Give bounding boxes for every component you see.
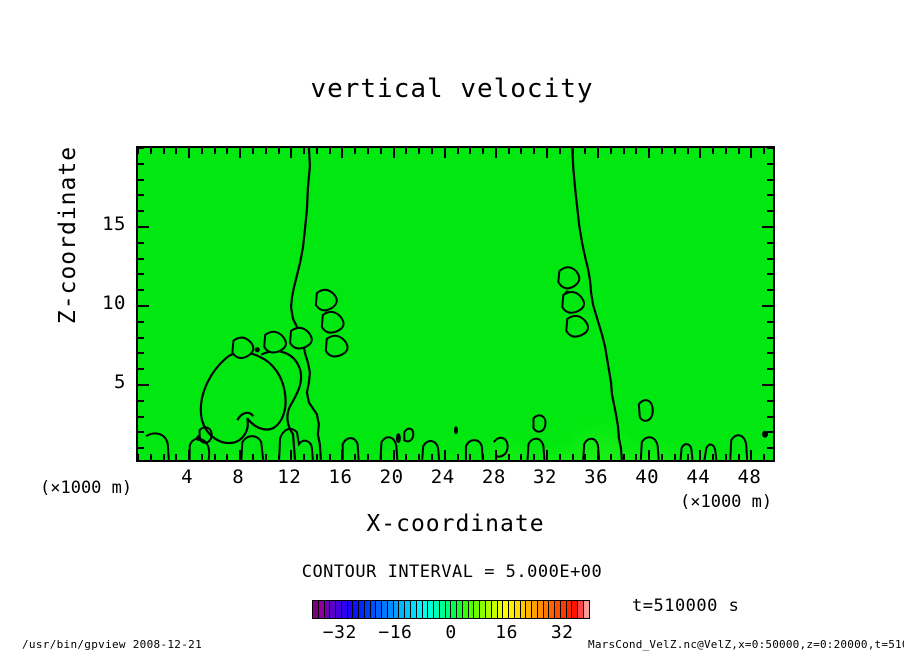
colorbar-swatch bbox=[469, 601, 474, 618]
colorbar-swatch bbox=[463, 601, 468, 618]
axis-tick bbox=[367, 454, 369, 460]
axis-tick bbox=[418, 148, 420, 154]
axis-tick bbox=[482, 148, 484, 154]
x-axis-units-label: (×1000 m) bbox=[680, 492, 772, 512]
axis-tick bbox=[138, 447, 144, 449]
axis-tick bbox=[252, 454, 254, 460]
y-axis-title: Z-coordinate bbox=[55, 115, 81, 355]
colorbar-swatch bbox=[480, 601, 485, 618]
colorbar-swatch bbox=[549, 601, 554, 618]
axis-tick bbox=[252, 148, 254, 154]
colorbar-swatch bbox=[325, 601, 330, 618]
axis-tick bbox=[763, 454, 765, 460]
axis-tick bbox=[767, 337, 773, 339]
y-tick-label: 5 bbox=[86, 371, 126, 393]
axis-tick bbox=[329, 454, 331, 460]
colorbar-swatch bbox=[319, 601, 324, 618]
axis-tick bbox=[687, 148, 689, 154]
axis-tick bbox=[572, 148, 574, 154]
colorbar-swatch bbox=[330, 601, 335, 618]
axis-tick bbox=[316, 148, 318, 154]
axis-tick bbox=[150, 148, 152, 154]
axis-tick bbox=[265, 148, 267, 154]
axis-tick bbox=[175, 454, 177, 460]
colorbar-swatch bbox=[440, 601, 445, 618]
colorbar bbox=[312, 600, 590, 619]
footer-dataset: MarsCond_VelZ.nc@VelZ,x=0:50000,z=0:2000… bbox=[588, 638, 904, 651]
colorbar-swatch bbox=[521, 601, 526, 618]
axis-tick bbox=[584, 148, 586, 154]
axis-tick bbox=[725, 454, 727, 460]
axis-tick bbox=[354, 148, 356, 154]
axis-tick bbox=[762, 226, 773, 228]
axis-tick bbox=[712, 148, 714, 154]
contour-interval-caption: CONTOUR INTERVAL = 5.000E+00 bbox=[0, 562, 904, 582]
axis-tick bbox=[138, 289, 144, 291]
axis-tick bbox=[767, 210, 773, 212]
colorbar-swatch bbox=[544, 601, 549, 618]
axis-tick bbox=[138, 163, 144, 165]
axis-tick bbox=[367, 148, 369, 154]
axis-tick bbox=[163, 454, 165, 460]
colorbar-swatch bbox=[434, 601, 439, 618]
axis-tick bbox=[163, 148, 165, 154]
axis-tick bbox=[699, 450, 701, 460]
axis-tick bbox=[138, 179, 144, 181]
axis-tick bbox=[393, 148, 395, 158]
colorbar-swatch bbox=[492, 601, 497, 618]
contour-plot-canvas bbox=[138, 148, 773, 462]
axis-tick bbox=[469, 148, 471, 154]
axis-tick bbox=[767, 242, 773, 244]
colorbar-swatch bbox=[365, 601, 370, 618]
axis-tick bbox=[610, 454, 612, 460]
axis-tick bbox=[138, 273, 144, 275]
axis-tick bbox=[738, 148, 740, 154]
axis-tick bbox=[648, 450, 650, 460]
axis-tick bbox=[750, 450, 752, 460]
axis-tick bbox=[188, 148, 190, 158]
axis-tick bbox=[138, 194, 144, 196]
axis-tick bbox=[762, 305, 773, 307]
colorbar-swatch bbox=[417, 601, 422, 618]
colorbar-swatch bbox=[555, 601, 560, 618]
axis-tick bbox=[572, 454, 574, 460]
axis-tick bbox=[648, 148, 650, 158]
axis-tick bbox=[329, 148, 331, 154]
axis-tick bbox=[584, 454, 586, 460]
colorbar-swatch bbox=[526, 601, 531, 618]
axis-tick bbox=[457, 454, 459, 460]
axis-tick bbox=[495, 148, 497, 158]
axis-tick bbox=[188, 450, 190, 460]
axis-tick bbox=[138, 147, 144, 149]
axis-tick bbox=[762, 384, 773, 386]
axis-tick bbox=[661, 148, 663, 154]
axis-tick bbox=[725, 148, 727, 154]
axis-tick bbox=[431, 454, 433, 460]
colorbar-swatch bbox=[388, 601, 393, 618]
axis-tick bbox=[767, 400, 773, 402]
axis-tick bbox=[546, 450, 548, 460]
axis-tick bbox=[175, 148, 177, 154]
colorbar-swatch bbox=[584, 601, 589, 618]
colorbar-swatch bbox=[371, 601, 376, 618]
axis-tick bbox=[661, 454, 663, 460]
axis-tick bbox=[138, 352, 144, 354]
axis-tick bbox=[138, 242, 144, 244]
colorbar-swatch bbox=[428, 601, 433, 618]
axis-tick bbox=[138, 400, 144, 402]
colorbar-swatch bbox=[486, 601, 491, 618]
axis-tick bbox=[214, 148, 216, 154]
axis-tick bbox=[226, 454, 228, 460]
axis-tick bbox=[597, 450, 599, 460]
axis-tick bbox=[316, 454, 318, 460]
colorbar-swatch bbox=[498, 601, 503, 618]
colorbar-swatch bbox=[446, 601, 451, 618]
axis-tick bbox=[623, 148, 625, 154]
axis-tick bbox=[214, 454, 216, 460]
axis-tick bbox=[495, 450, 497, 460]
axis-tick bbox=[482, 454, 484, 460]
axis-tick bbox=[533, 454, 535, 460]
colorbar-swatch bbox=[509, 601, 514, 618]
colorbar-swatch bbox=[394, 601, 399, 618]
x-axis-title: X-coordinate bbox=[136, 511, 775, 537]
y-tick-label: 10 bbox=[86, 292, 126, 314]
axis-tick bbox=[674, 148, 676, 154]
colorbar-swatch bbox=[572, 601, 577, 618]
axis-tick bbox=[226, 148, 228, 154]
axis-tick bbox=[138, 337, 144, 339]
contour-plot-frame bbox=[136, 146, 775, 462]
axis-tick bbox=[138, 321, 144, 323]
axis-tick bbox=[278, 454, 280, 460]
axis-tick bbox=[354, 454, 356, 460]
axis-tick bbox=[380, 148, 382, 154]
axis-tick bbox=[138, 305, 149, 307]
colorbar-swatch bbox=[423, 601, 428, 618]
page-title: vertical velocity bbox=[0, 74, 904, 104]
axis-tick bbox=[138, 431, 144, 433]
axis-tick bbox=[546, 148, 548, 158]
axis-tick bbox=[290, 148, 292, 158]
axis-tick bbox=[767, 258, 773, 260]
axis-tick bbox=[767, 447, 773, 449]
axis-tick bbox=[597, 148, 599, 158]
axis-tick bbox=[393, 450, 395, 460]
axis-tick bbox=[303, 148, 305, 154]
axis-tick bbox=[290, 450, 292, 460]
axis-tick bbox=[303, 454, 305, 460]
axis-tick bbox=[138, 368, 144, 370]
axis-tick bbox=[767, 163, 773, 165]
axis-tick bbox=[712, 454, 714, 460]
axis-tick bbox=[469, 454, 471, 460]
axis-tick bbox=[138, 226, 149, 228]
axis-tick bbox=[635, 454, 637, 460]
colorbar-swatch bbox=[405, 601, 410, 618]
axis-tick bbox=[138, 384, 149, 386]
axis-tick bbox=[201, 148, 203, 154]
y-tick-label: 15 bbox=[86, 213, 126, 235]
axis-tick bbox=[767, 147, 773, 149]
axis-tick bbox=[623, 454, 625, 460]
colorbar-swatch bbox=[313, 601, 318, 618]
axis-tick bbox=[239, 450, 241, 460]
axis-tick bbox=[674, 454, 676, 460]
colorbar-swatch bbox=[399, 601, 404, 618]
colorbar-swatch bbox=[451, 601, 456, 618]
axis-tick bbox=[341, 148, 343, 158]
axis-tick bbox=[533, 148, 535, 154]
axis-tick bbox=[405, 148, 407, 154]
axis-tick bbox=[767, 194, 773, 196]
axis-tick bbox=[750, 148, 752, 158]
x-tick-label: 48 bbox=[719, 466, 779, 488]
axis-tick bbox=[767, 368, 773, 370]
axis-tick bbox=[767, 416, 773, 418]
axis-tick bbox=[201, 454, 203, 460]
axis-tick bbox=[520, 454, 522, 460]
axis-tick bbox=[767, 352, 773, 354]
axis-tick bbox=[767, 321, 773, 323]
axis-tick bbox=[767, 273, 773, 275]
colorbar-swatch bbox=[515, 601, 520, 618]
axis-tick bbox=[418, 454, 420, 460]
axis-tick bbox=[444, 450, 446, 460]
colorbar-swatch bbox=[348, 601, 353, 618]
axis-tick bbox=[508, 148, 510, 154]
colorbar-swatch bbox=[342, 601, 347, 618]
colorbar-tick-label: 32 bbox=[527, 622, 597, 643]
y-axis-units-label: (×1000 m) bbox=[40, 478, 132, 498]
axis-tick bbox=[341, 450, 343, 460]
colorbar-swatch bbox=[567, 601, 572, 618]
axis-tick bbox=[405, 454, 407, 460]
axis-tick bbox=[610, 148, 612, 154]
colorbar-swatch bbox=[474, 601, 479, 618]
colorbar-swatch bbox=[457, 601, 462, 618]
colorbar-swatch bbox=[532, 601, 537, 618]
time-label: t=510000 s bbox=[632, 596, 739, 616]
colorbar-swatch bbox=[353, 601, 358, 618]
colorbar-swatch bbox=[411, 601, 416, 618]
axis-tick bbox=[520, 148, 522, 154]
colorbar-swatch bbox=[376, 601, 381, 618]
axis-tick bbox=[767, 179, 773, 181]
axis-tick bbox=[138, 210, 144, 212]
axis-tick bbox=[767, 289, 773, 291]
axis-tick bbox=[699, 148, 701, 158]
colorbar-swatch bbox=[538, 601, 543, 618]
axis-tick bbox=[508, 454, 510, 460]
axis-tick bbox=[635, 148, 637, 154]
colorbar-swatch bbox=[382, 601, 387, 618]
axis-tick bbox=[138, 258, 144, 260]
axis-tick bbox=[265, 454, 267, 460]
axis-tick bbox=[738, 454, 740, 460]
axis-tick bbox=[687, 454, 689, 460]
axis-tick bbox=[380, 454, 382, 460]
axis-tick bbox=[767, 431, 773, 433]
axis-tick bbox=[137, 454, 139, 460]
colorbar-swatch bbox=[336, 601, 341, 618]
axis-tick bbox=[444, 148, 446, 158]
colorbar-swatch bbox=[503, 601, 508, 618]
colorbar-swatch bbox=[359, 601, 364, 618]
axis-tick bbox=[150, 454, 152, 460]
colorbar-swatch bbox=[561, 601, 566, 618]
axis-tick bbox=[239, 148, 241, 158]
axis-tick bbox=[559, 148, 561, 154]
colorbar-swatch bbox=[578, 601, 583, 618]
axis-tick bbox=[431, 148, 433, 154]
axis-tick bbox=[278, 148, 280, 154]
axis-tick bbox=[138, 416, 144, 418]
footer-command: /usr/bin/gpview 2008-12-21 bbox=[22, 638, 202, 651]
axis-tick bbox=[457, 148, 459, 154]
axis-tick bbox=[559, 454, 561, 460]
axis-tick bbox=[763, 148, 765, 154]
